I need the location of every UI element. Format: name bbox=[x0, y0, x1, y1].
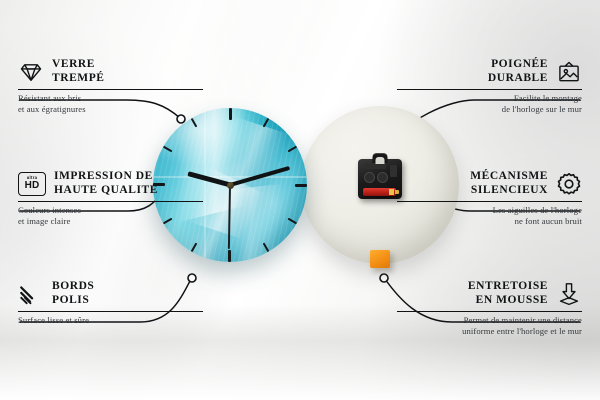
hands-center-cap bbox=[227, 182, 234, 189]
callout-header: VERRE TREMPÉ bbox=[18, 58, 203, 85]
diamond-icon bbox=[18, 59, 44, 85]
foam-spacer bbox=[370, 250, 390, 268]
foam-spacer-icon bbox=[556, 281, 582, 307]
movement-chip bbox=[364, 164, 386, 169]
callout-title: POIGNÉE DURABLE bbox=[488, 58, 548, 85]
callout-header: POIGNÉE DURABLE bbox=[397, 58, 582, 85]
callout-divider bbox=[18, 201, 203, 202]
callout-entretoise-en-mousse: ENTRETOISE EN MOUSSE Permet de maintenir… bbox=[397, 280, 582, 337]
callout-description: Surface lisse et sûre bbox=[18, 315, 203, 326]
callout-title: VERRE TREMPÉ bbox=[52, 58, 105, 85]
hour-tick-3 bbox=[230, 184, 307, 186]
callout-description: Permet de maintenir une distance uniform… bbox=[397, 315, 582, 336]
movement-dial-one bbox=[364, 172, 375, 183]
callout-divider bbox=[397, 311, 582, 312]
callout-poignee-durable: POIGNÉE DURABLE Facilite le montage de l… bbox=[397, 58, 582, 115]
polished-edges-icon bbox=[18, 281, 44, 307]
callout-header: ENTRETOISE EN MOUSSE bbox=[397, 280, 582, 307]
movement-dial-two bbox=[377, 172, 388, 183]
callout-divider bbox=[18, 311, 203, 312]
ultra-hd-icon: ultra HD bbox=[18, 172, 46, 196]
movement-chip-side bbox=[390, 165, 397, 177]
callout-title: MÉCANISME SILENCIEUX bbox=[470, 170, 548, 197]
callout-impression-haute-qualite: ultra HD IMPRESSION DE HAUTE QUALITÉ Cou… bbox=[18, 170, 203, 227]
callout-divider bbox=[397, 89, 582, 90]
picture-hanger-icon bbox=[556, 59, 582, 85]
callout-header: MÉCANISME SILENCIEUX bbox=[397, 170, 582, 197]
hour-tick-12 bbox=[229, 108, 231, 185]
callout-description: Résistant aux bris et aux égratignures bbox=[18, 93, 203, 114]
callout-description: Facilite le montage de l'horloge sur le … bbox=[397, 93, 582, 114]
battery bbox=[363, 188, 396, 196]
callout-title: BORDS POLIS bbox=[52, 280, 94, 307]
callout-verre-trempe: VERRE TREMPÉ Résistant aux bris et aux é… bbox=[18, 58, 203, 115]
callout-bords-polis: BORDS POLIS Surface lisse et sûre bbox=[18, 280, 203, 326]
callout-description: Les aiguilles de l'horloge ne font aucun… bbox=[397, 205, 582, 226]
callout-header: ultra HD IMPRESSION DE HAUTE QUALITÉ bbox=[18, 170, 203, 197]
hanger-tab bbox=[373, 153, 388, 163]
connector-endpoint-entretoise bbox=[380, 274, 388, 282]
callout-divider bbox=[18, 89, 203, 90]
quartz-movement bbox=[358, 159, 402, 199]
callout-title: IMPRESSION DE HAUTE QUALITÉ bbox=[54, 170, 158, 197]
infographic-canvas: VERRE TREMPÉ Résistant aux bris et aux é… bbox=[0, 0, 600, 400]
gear-icon bbox=[556, 171, 582, 197]
callout-mecanisme-silencieux: MÉCANISME SILENCIEUX Les aiguilles de l'… bbox=[397, 170, 582, 227]
callout-description: Couleurs intenses et image claire bbox=[18, 205, 203, 226]
callout-divider bbox=[397, 201, 582, 202]
callout-header: BORDS POLIS bbox=[18, 280, 203, 307]
callout-title: ENTRETOISE EN MOUSSE bbox=[468, 280, 548, 307]
ultra-hd-icon-big-text: HD bbox=[25, 181, 40, 191]
